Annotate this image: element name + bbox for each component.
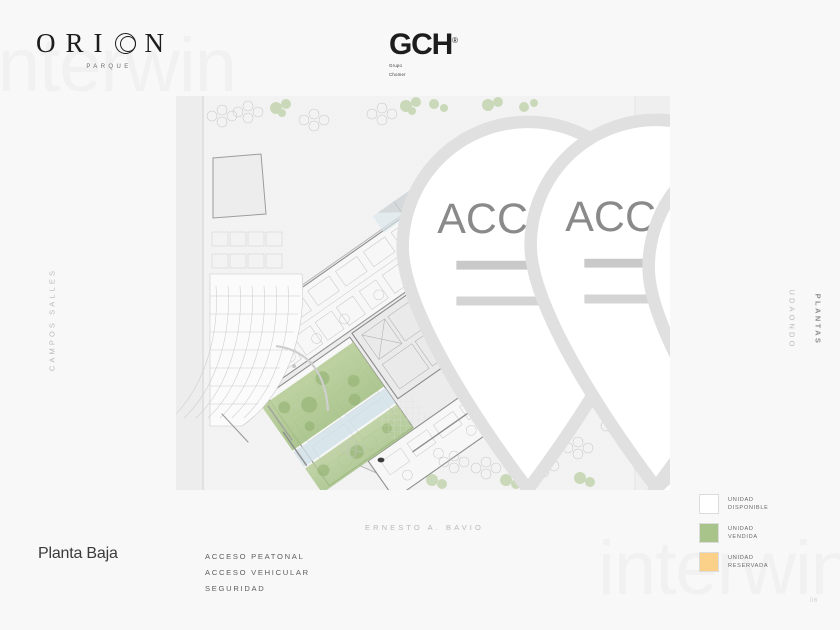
- access-item-0: ACCESO PEATONAL: [205, 549, 310, 565]
- map-pin-icon[interactable]: ACCESO: [281, 104, 297, 126]
- legend-swatch-2: [699, 552, 719, 572]
- orion-letters-ori: ORI: [36, 28, 113, 59]
- orion-subtitle: PARQUE: [36, 64, 174, 70]
- orion-wordmark: ORI N: [36, 28, 174, 59]
- orion-ring-icon: [115, 33, 136, 54]
- map-pin-icon[interactable]: ACCESO: [501, 431, 517, 453]
- legend-swatch-0: [699, 494, 719, 514]
- gch-sub-line1: Grupo: [389, 63, 457, 69]
- access-item-1: ACCESO VEHICULAR: [205, 565, 310, 581]
- presentation-slide: interwin interwin ORI N PARQUE GCH® Grup…: [0, 0, 840, 630]
- gch-trademark-icon: ®: [452, 36, 457, 45]
- access-legend-list: ACCESO PEATONALACCESO VEHICULARSEGURIDAD: [205, 549, 310, 597]
- gch-sub-line2: Chomer: [389, 72, 457, 78]
- street-label-right: UDAONDO: [788, 260, 797, 380]
- unit-status-legend: UNIDADDISPONIBLEUNIDADVENDIDAUNIDADRESER…: [699, 494, 769, 581]
- map-pin-icon[interactable]: ACCESO: [527, 124, 543, 146]
- page-title: Planta Baja: [38, 545, 118, 563]
- map-pin-icon[interactable]: ACCESO: [409, 102, 425, 124]
- plantas-tab[interactable]: PLANTAS: [814, 280, 823, 360]
- legend-label-2: UNIDADRESERVADA: [728, 554, 768, 570]
- gch-wordmark: GCH®: [389, 30, 457, 60]
- orion-letter-n: N: [145, 28, 175, 59]
- orion-logo: ORI N PARQUE: [36, 28, 174, 70]
- street-label-bottom: ERNESTO A. BAVIO: [365, 523, 484, 532]
- page-number: 06: [810, 597, 818, 604]
- legend-row-0: UNIDADDISPONIBLE: [699, 494, 769, 514]
- legend-row-1: UNIDADVENDIDA: [699, 523, 769, 543]
- legend-label-1: UNIDADVENDIDA: [728, 525, 758, 541]
- legend-label-0: UNIDADDISPONIBLE: [728, 496, 769, 512]
- access-item-2: SEGURIDAD: [205, 581, 310, 597]
- legend-swatch-1: [699, 523, 719, 543]
- legend-row-2: UNIDADRESERVADA: [699, 552, 769, 572]
- gch-logo: GCH® Grupo Chomer: [389, 30, 457, 78]
- floor-plan-canvas[interactable]: ACCESOACCESOACCESOACCESOACCESO: [176, 96, 670, 490]
- street-label-left: CAMPOS SALLES: [48, 260, 57, 380]
- gch-letters: GCH: [389, 28, 452, 61]
- map-pin-icon[interactable]: ACCESO: [598, 434, 614, 456]
